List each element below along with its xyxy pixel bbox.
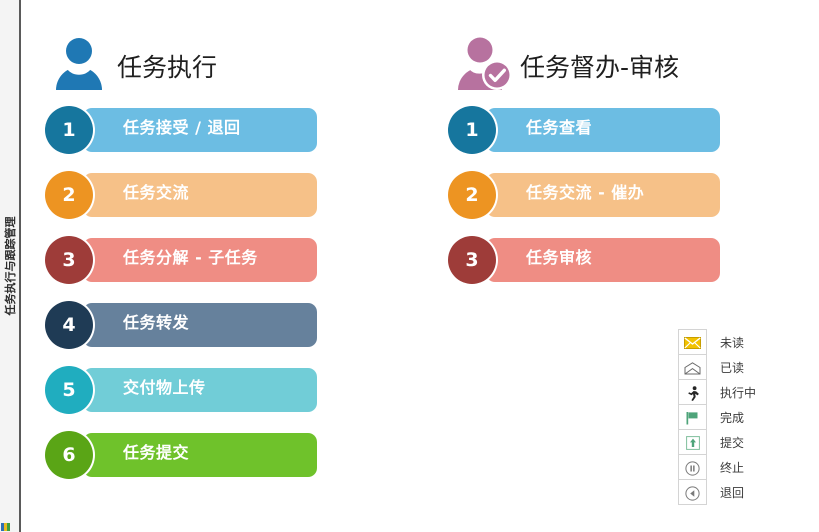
step-label: 任务交流 <box>123 171 189 215</box>
legend-icon-cell <box>679 455 707 480</box>
vertical-section-tab-label: 任务执行与跟踪管理 <box>2 217 18 316</box>
column-header: 任务督办-审核 <box>448 34 808 106</box>
step-label: 交付物上传 <box>123 366 206 410</box>
step-label: 任务转发 <box>123 301 189 345</box>
step-list: 1 任务查看 2 任务交流 - 催办 3 任务审核 <box>448 106 808 284</box>
step-bar <box>486 238 720 282</box>
step-item[interactable]: 3 任务审核 <box>448 236 720 284</box>
step-item[interactable]: 1 任务查看 <box>448 106 720 154</box>
step-label: 任务查看 <box>526 106 592 150</box>
step-label: 任务审核 <box>526 236 592 280</box>
legend-icon-cell <box>679 355 707 380</box>
legend-row: 已读 <box>679 355 777 380</box>
step-item[interactable]: 4 任务转发 <box>45 301 317 349</box>
step-label: 任务接受 / 退回 <box>123 106 241 150</box>
legend-icon-cell <box>679 480 707 505</box>
legend-row: 完成 <box>679 405 777 430</box>
legend-icon-cell <box>679 405 707 430</box>
step-bar <box>486 108 720 152</box>
step-number-badge: 3 <box>448 236 496 284</box>
legend-label: 退回 <box>707 480 777 505</box>
legend-row: 提交 <box>679 430 777 455</box>
step-item[interactable]: 2 任务交流 - 催办 <box>448 171 720 219</box>
column-task-supervision-review: 任务督办-审核 1 任务查看 2 任务交流 - 催办 3 任务审核 <box>448 34 808 301</box>
column-task-execution: 任务执行 1 任务接受 / 退回 2 任务交流 3 任务分解 - 子任务 4 任 <box>45 34 405 496</box>
step-bar <box>83 303 317 347</box>
step-item[interactable]: 3 任务分解 - 子任务 <box>45 236 317 284</box>
status-legend: 未读 已读 <box>678 329 777 505</box>
step-label: 任务交流 - 催办 <box>526 171 644 215</box>
step-item[interactable]: 5 交付物上传 <box>45 366 317 414</box>
running-person-icon <box>686 386 700 401</box>
legend-icon-cell <box>679 330 707 355</box>
person-check-icon <box>454 34 514 94</box>
column-title: 任务执行 <box>117 48 217 84</box>
legend-label: 提交 <box>707 430 777 455</box>
legend-icon-cell <box>679 380 707 405</box>
legend-row: 执行中 <box>679 380 777 405</box>
step-number-badge: 2 <box>448 171 496 219</box>
step-number-badge: 5 <box>45 366 93 414</box>
step-number-badge: 3 <box>45 236 93 284</box>
legend-label: 执行中 <box>707 380 777 405</box>
step-number-badge: 4 <box>45 301 93 349</box>
legend-row: 未读 <box>679 330 777 355</box>
step-item[interactable]: 6 任务提交 <box>45 431 317 479</box>
step-label: 任务提交 <box>123 431 189 475</box>
legend-label: 终止 <box>707 455 777 480</box>
legend-icon-cell <box>679 430 707 455</box>
step-list: 1 任务接受 / 退回 2 任务交流 3 任务分解 - 子任务 4 任务转发 5 <box>45 106 405 479</box>
legend-label: 未读 <box>707 330 777 355</box>
office-logo-chip-icon <box>1 523 10 531</box>
slide-canvas: 任务执行与跟踪管理 任务执行 1 任务接受 / 退回 2 <box>0 0 819 532</box>
envelope-closed-icon <box>684 337 701 349</box>
envelope-open-icon <box>684 362 701 375</box>
column-title: 任务督办-审核 <box>520 48 679 84</box>
vertical-section-tab[interactable]: 任务执行与跟踪管理 <box>0 0 21 532</box>
step-bar <box>83 173 317 217</box>
pause-circle-icon <box>685 461 700 476</box>
legend-label: 已读 <box>707 355 777 380</box>
legend-row: 终止 <box>679 455 777 480</box>
column-header: 任务执行 <box>45 34 405 106</box>
step-bar <box>83 433 317 477</box>
step-label: 任务分解 - 子任务 <box>123 236 258 280</box>
step-number-badge: 1 <box>45 106 93 154</box>
flag-icon <box>685 411 700 425</box>
step-number-badge: 1 <box>448 106 496 154</box>
legend-label: 完成 <box>707 405 777 430</box>
person-icon <box>51 34 107 94</box>
back-circle-icon <box>685 486 700 501</box>
step-item[interactable]: 2 任务交流 <box>45 171 317 219</box>
step-item[interactable]: 1 任务接受 / 退回 <box>45 106 317 154</box>
step-number-badge: 6 <box>45 431 93 479</box>
step-number-badge: 2 <box>45 171 93 219</box>
legend-row: 退回 <box>679 480 777 505</box>
upload-box-icon <box>686 436 700 450</box>
